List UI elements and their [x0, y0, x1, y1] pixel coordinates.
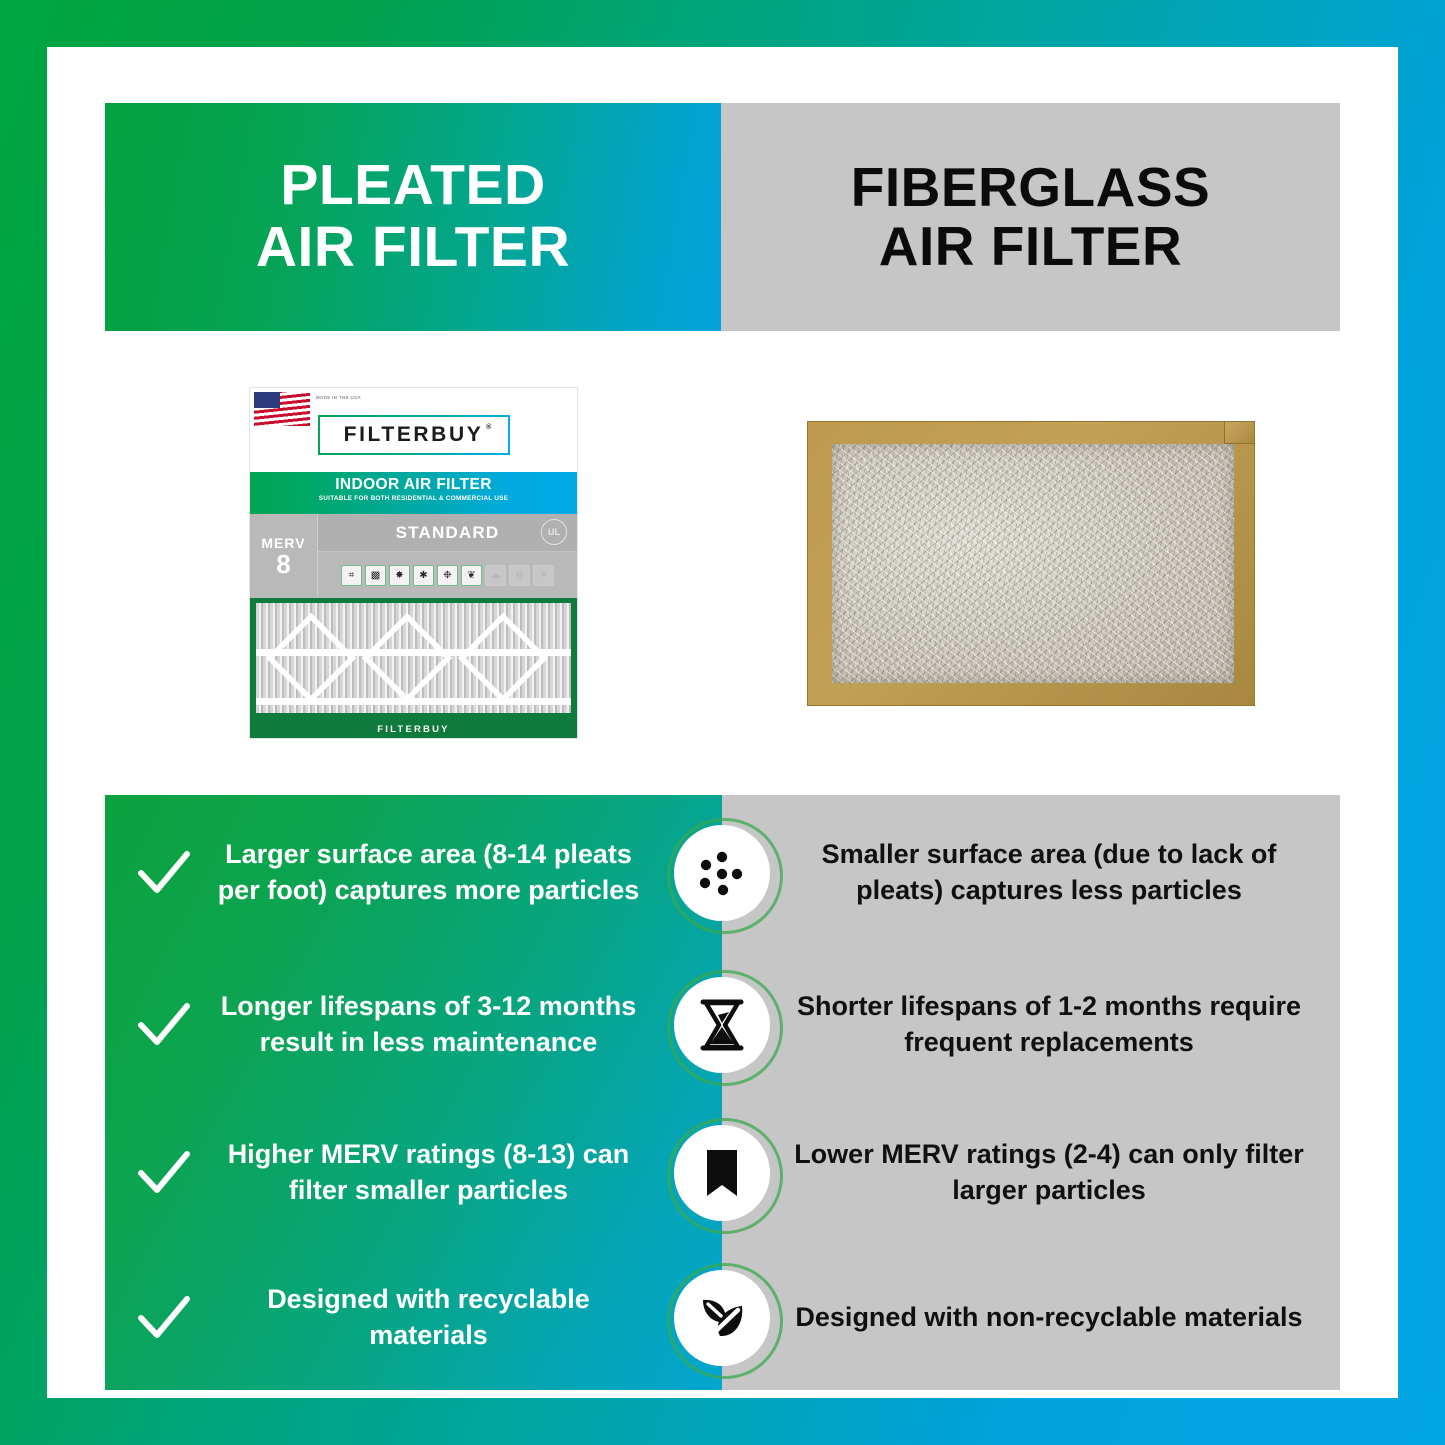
mold-icon: ✱ [413, 565, 434, 586]
package-spec-section: MERV 8 STANDARD UL ⌗ ▩ ✸ [250, 514, 577, 598]
bacteria-icon: ◍ [509, 565, 530, 586]
comparison-row: Higher MERV ratings (8-13) can filter sm… [105, 1099, 1340, 1247]
pleated-filter-package: MADE IN THE USA FILTERBUY® INDOOR AIR FI… [249, 387, 578, 739]
row2-right-text: Shorter lifespans of 1-2 months require … [722, 989, 1340, 1061]
check-icon [135, 844, 193, 902]
header-pleated-title: PLEATED AIR FILTER [256, 155, 570, 278]
package-band-subtitle: SUITABLE FOR BOTH RESIDENTIAL & COMMERCI… [250, 495, 577, 502]
usa-flag-icon [254, 392, 310, 426]
row1-right-text: Smaller surface area (due to lack of ple… [722, 837, 1340, 909]
row3-left-text: Higher MERV ratings (8-13) can filter sm… [207, 1137, 702, 1209]
package-pleats-section: FILTERBUY [250, 598, 577, 739]
brand-trademark: ® [486, 424, 491, 431]
hourglass-icon [674, 977, 770, 1073]
package-footer-brand: FILTERBUY [250, 724, 577, 735]
particles-icon [674, 825, 770, 921]
brand-name: FILTERBUY® [344, 423, 484, 447]
check-icon [135, 1144, 193, 1202]
pleat-diamond-2 [362, 613, 452, 703]
infographic-canvas: PLEATED AIR FILTER FIBERGLASS AIR FILTER… [47, 47, 1398, 1398]
header-pleated-line1: PLEATED [280, 153, 545, 217]
package-band-title: INDOOR AIR FILTER [250, 476, 577, 493]
row2-left-cell: Longer lifespans of 3-12 months result i… [105, 989, 722, 1061]
package-spec-right: STANDARD UL ⌗ ▩ ✸ ✱ ❉ ❦ ☁ [318, 514, 577, 598]
comparison-section: Larger surface area (8-14 pleats per foo… [105, 795, 1340, 1390]
virus-icon: ⚘ [533, 565, 554, 586]
ul-certification-icon: UL [541, 519, 567, 545]
lint-icon: ▩ [365, 565, 386, 586]
pleat-diamond-1 [266, 613, 356, 703]
fiberglass-frame-corner [1224, 422, 1254, 444]
header-fiberglass-title: FIBERGLASS AIR FILTER [851, 158, 1210, 277]
product-image-row: MADE IN THE USA FILTERBUY® INDOOR AIR FI… [105, 331, 1340, 795]
fiberglass-mesh [832, 444, 1234, 683]
dust-icon: ⌗ [341, 565, 362, 586]
comparison-row: Larger surface area (8-14 pleats per foo… [105, 795, 1340, 952]
row4-left-text: Designed with recyclable materials [207, 1282, 702, 1354]
comparison-rows: Larger surface area (8-14 pleats per foo… [105, 795, 1340, 1390]
header-fiberglass-line2: AIR FILTER [879, 215, 1182, 277]
merv-block: MERV 8 [250, 514, 318, 598]
grade-row: STANDARD UL [318, 514, 577, 552]
dust-mite-icon: ❉ [437, 565, 458, 586]
row3-left-cell: Higher MERV ratings (8-13) can filter sm… [105, 1137, 722, 1209]
made-in-usa-label: MADE IN THE USA [316, 395, 362, 401]
filtration-icon-strip: ⌗ ▩ ✸ ✱ ❉ ❦ ☁ ◍ ⚘ [318, 552, 577, 598]
package-top-section: MADE IN THE USA FILTERBUY® [250, 388, 577, 472]
row4-right-text: Designed with non-recyclable materials [722, 1300, 1340, 1336]
grade-label: STANDARD [396, 523, 500, 543]
pollen-icon: ✸ [389, 565, 410, 586]
bookmark-icon [674, 1125, 770, 1221]
brand-frame: FILTERBUY® [318, 415, 510, 455]
brand-name-text: FILTERBUY [344, 423, 484, 446]
product-pane-fiberglass [722, 331, 1339, 795]
header-band: PLEATED AIR FILTER FIBERGLASS AIR FILTER [105, 103, 1340, 331]
comparison-row: Longer lifespans of 3-12 months result i… [105, 952, 1340, 1100]
leaf-icon [674, 1270, 770, 1366]
row1-left-cell: Larger surface area (8-14 pleats per foo… [105, 837, 722, 909]
check-icon [135, 1289, 193, 1347]
fiberglass-filter-photo [807, 421, 1255, 706]
pleat-diamond-3 [458, 613, 548, 703]
package-band: INDOOR AIR FILTER SUITABLE FOR BOTH RESI… [250, 472, 577, 514]
product-pane-pleated: MADE IN THE USA FILTERBUY® INDOOR AIR FI… [105, 331, 722, 795]
row3-right-text: Lower MERV ratings (2-4) can only filter… [722, 1137, 1340, 1209]
merv-value: 8 [276, 551, 290, 577]
check-icon [135, 996, 193, 1054]
header-pleated: PLEATED AIR FILTER [105, 103, 721, 331]
infographic-root: PLEATED AIR FILTER FIBERGLASS AIR FILTER… [0, 0, 1445, 1445]
pleat-brace-bottom [256, 698, 571, 705]
row1-left-text: Larger surface area (8-14 pleats per foo… [207, 837, 702, 909]
row4-left-cell: Designed with recyclable materials [105, 1282, 722, 1354]
row2-left-text: Longer lifespans of 3-12 months result i… [207, 989, 702, 1061]
header-fiberglass: FIBERGLASS AIR FILTER [721, 103, 1340, 331]
header-fiberglass-line1: FIBERGLASS [851, 156, 1210, 218]
comparison-row: Designed with recyclable materials Desig… [105, 1247, 1340, 1390]
pleat-media [256, 603, 571, 713]
smoke-icon: ☁ [485, 565, 506, 586]
header-pleated-line2: AIR FILTER [256, 215, 570, 279]
pet-dander-icon: ❦ [461, 565, 482, 586]
